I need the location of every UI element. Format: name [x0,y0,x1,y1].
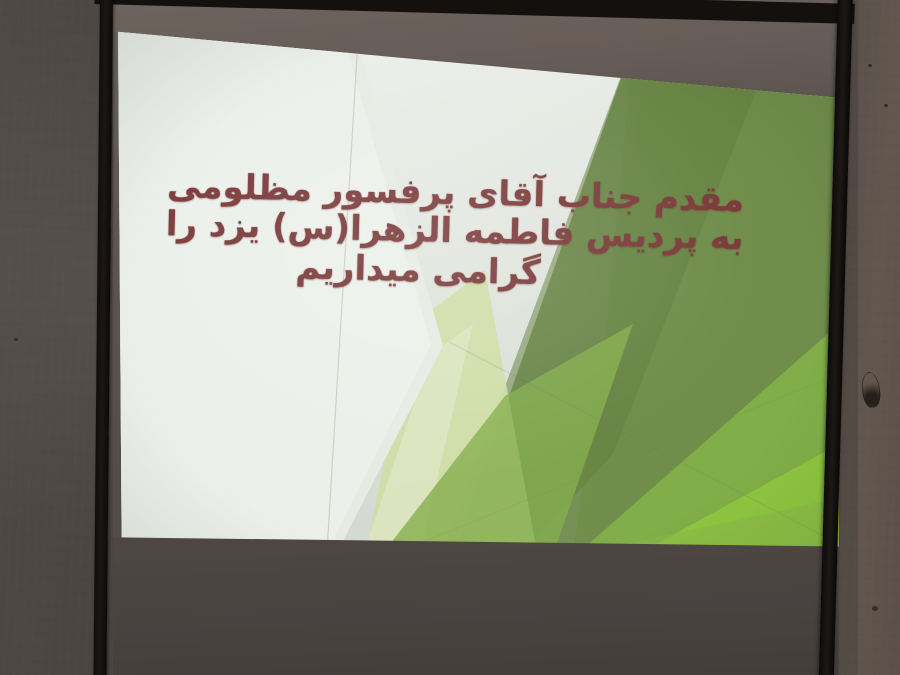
wall-speck [14,338,18,341]
projected-slide-photo: مقدم جناب آقای پرفسور مظلومی به پردیس فا… [0,0,900,675]
wall-speck [872,606,878,611]
slide-decoration-polygons [113,24,839,584]
screen-lower-unlit-area [113,533,839,675]
wall-speck [884,104,888,107]
slide-title-block: مقدم جناب آقای پرفسور مظلومی به پردیس فا… [155,168,753,297]
wall-speck [868,64,872,67]
room-wall-right-panel [858,0,900,675]
projected-slide: مقدم جناب آقای پرفسور مظلومی به پردیس فا… [113,24,839,584]
